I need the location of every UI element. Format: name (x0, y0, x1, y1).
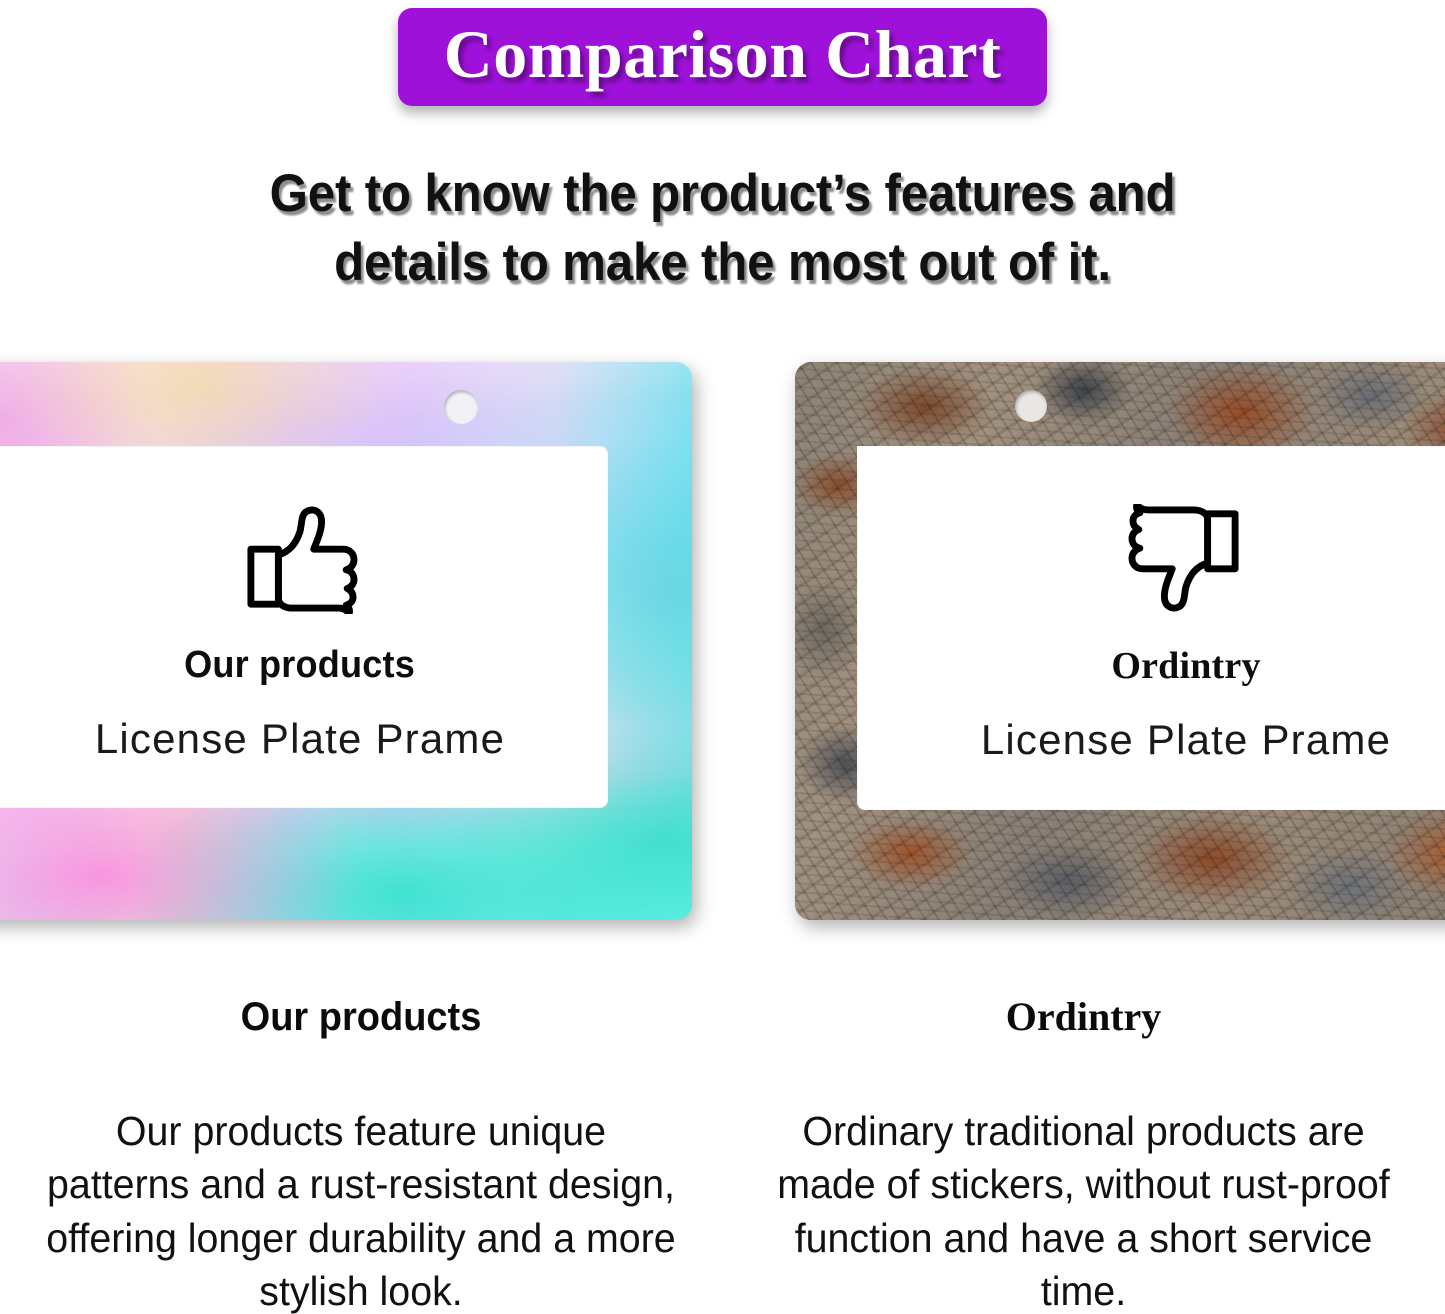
banner-container: Comparison Chart (0, 8, 1445, 106)
comparison-chart-banner: Comparison Chart (398, 8, 1048, 106)
comparison-columns: Our products Our products feature unique… (0, 995, 1445, 1314)
ordinary-product-frame: Ordintry License Plate Prame (795, 362, 1445, 920)
plate-content: Ordintry License Plate Prame (857, 446, 1445, 810)
license-plate-window: Our products License Plate Prame (0, 446, 608, 808)
plate-content: Our products License Plate Prame (0, 446, 608, 808)
page-subtitle: Get to know the product’s features and d… (51, 160, 1395, 298)
mounting-hole (444, 390, 478, 424)
column-heading: Our products (45, 995, 678, 1039)
page-title: Comparison Chart (444, 16, 1002, 92)
ordinary-product-heading: Ordintry (1111, 644, 1260, 688)
column-body-text: Our products feature unique patterns and… (41, 1105, 680, 1314)
thumbs-up-icon (241, 504, 359, 614)
license-plate-window: Ordintry License Plate Prame (857, 446, 1445, 810)
comparison-column-our-products: Our products Our products feature unique… (0, 995, 722, 1314)
product-frames-row: Our products License Plate Prame (0, 362, 1445, 922)
column-body-text: Ordinary traditional products are made o… (763, 1105, 1403, 1314)
plate-corner-notch (857, 446, 943, 508)
our-product-frame: Our products License Plate Prame (0, 362, 692, 920)
column-heading: Ordintry (750, 995, 1417, 1039)
comparison-column-ordinary: Ordintry Ordinary traditional products a… (722, 995, 1445, 1314)
our-product-heading: Our products (185, 644, 416, 687)
comparison-chart-page: Comparison Chart Get to know the product… (0, 0, 1445, 1314)
subtitle-line-1: Get to know the product’s features and (51, 160, 1395, 229)
mounting-hole (1015, 390, 1047, 422)
thumbs-down-icon (1127, 504, 1245, 614)
ordinary-product-subheading: License Plate Prame (981, 716, 1391, 764)
subtitle-line-2: details to make the most out of it. (51, 229, 1395, 298)
our-product-subheading: License Plate Prame (95, 715, 505, 763)
